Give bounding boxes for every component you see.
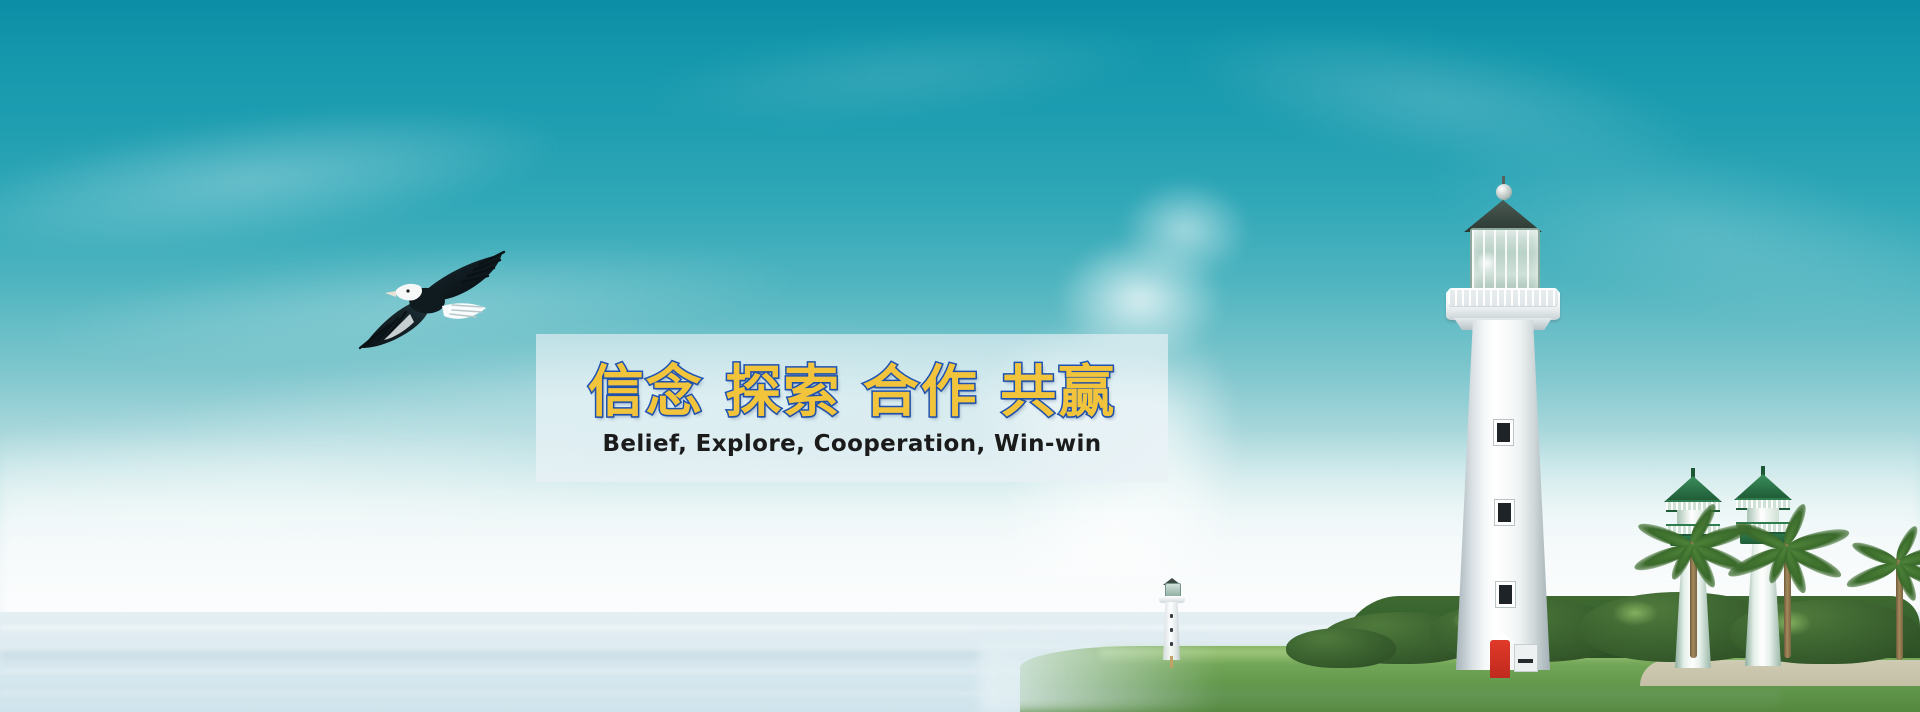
- lantern-room: [1470, 228, 1540, 296]
- tower-window: [1494, 420, 1513, 445]
- slogan-headline-cn: 信念 探索 合作 共赢: [588, 365, 1117, 421]
- distant-lighthouse: [1154, 578, 1190, 660]
- palm-tree: [1740, 500, 1860, 660]
- gallery-railing: [1448, 288, 1558, 307]
- red-door: [1490, 640, 1510, 678]
- slogan-subtitle-en: Belief, Explore, Cooperation, Win-win: [602, 433, 1101, 456]
- tower-window: [1495, 500, 1514, 525]
- tower-window: [1496, 582, 1515, 607]
- tower-shading: [1456, 320, 1550, 670]
- slogan-overlay-panel: 信念 探索 合作 共赢 Belief, Explore, Cooperation…: [536, 334, 1168, 482]
- hero-banner: 信念 探索 合作 共赢 Belief, Explore, Cooperation…: [0, 0, 1920, 712]
- eagle-icon: [352, 244, 512, 364]
- lantern-ball: [1496, 184, 1512, 200]
- palm-tree: [1856, 520, 1920, 670]
- shrub: [1286, 628, 1396, 668]
- wall-plaque: [1514, 644, 1538, 672]
- eagle: [352, 244, 512, 364]
- main-lighthouse: [1438, 170, 1568, 660]
